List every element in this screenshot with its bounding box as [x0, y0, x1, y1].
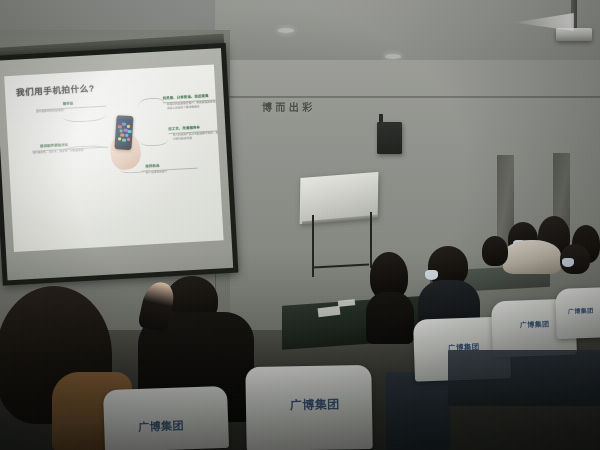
chair-base-right-row — [448, 350, 600, 406]
chair-cover-front-left[interactable]: 广博集团 — [103, 386, 229, 450]
app-icon — [127, 138, 131, 142]
connector-top-right — [138, 97, 167, 121]
torso — [366, 292, 414, 344]
conference-room-photo: 博而出彩 我们用手机拍什么? — [0, 0, 600, 450]
chair-logo-text: 广博集团 — [290, 395, 340, 413]
chair-base-front-center — [386, 372, 450, 450]
app-icon — [121, 133, 125, 137]
slide-title: 我们用手机拍什么? — [16, 82, 95, 98]
whiteboard-leg-right — [370, 212, 372, 268]
ceiling-projector — [556, 28, 592, 41]
slide-node-body-3: 录入和采购产品公司配送都不发货、报务质量对等的是否得通 — [173, 131, 224, 142]
soffit-edge — [215, 96, 600, 98]
fur-collar — [503, 240, 561, 274]
app-icon-cloud — [116, 118, 132, 147]
app-icon — [122, 138, 126, 142]
face-mask — [425, 270, 438, 280]
projection-screen: 我们用手机拍什么? — [0, 43, 238, 286]
ceiling-light-2 — [385, 54, 401, 59]
slide-node-heading-1: 提供配件颜色对比 — [40, 142, 69, 149]
slide-node-heading-0: 赠样品 — [63, 100, 74, 106]
app-icon — [128, 130, 132, 134]
app-icon — [127, 124, 131, 128]
chair-logo-text: 广博集团 — [568, 306, 594, 316]
connector-mid-right — [140, 131, 169, 147]
app-icon — [122, 122, 126, 126]
app-icon — [119, 129, 123, 133]
chair-cover-front-center[interactable]: 广博集团 — [245, 365, 372, 450]
app-icon — [118, 137, 122, 141]
presentation-slide: 我们用手机拍什么? — [4, 65, 223, 252]
screen-surface: 我们用手机拍什么? — [0, 48, 233, 280]
app-icon — [125, 134, 129, 138]
wall-speaker — [377, 122, 402, 154]
app-icon — [118, 125, 122, 129]
face-mask — [562, 258, 574, 267]
slide-node-body-2: 有疑问的品类细分客户、帮助获取具体化在场商品人员每天了解详解情况 — [167, 100, 223, 111]
phone-screen — [116, 118, 132, 147]
smartphone-shape — [114, 115, 133, 150]
wall-slogan-text: 博而出彩 — [262, 99, 316, 114]
slide-node-heading-4: 推荐新品 — [145, 163, 159, 169]
hair — [482, 236, 508, 266]
ceiling-light-1 — [278, 28, 294, 33]
chair-logo-text: 广博集团 — [520, 319, 550, 330]
chair-cover-far-right[interactable]: 广博集团 — [555, 287, 600, 339]
chair-logo-text: 广博集团 — [138, 417, 184, 435]
